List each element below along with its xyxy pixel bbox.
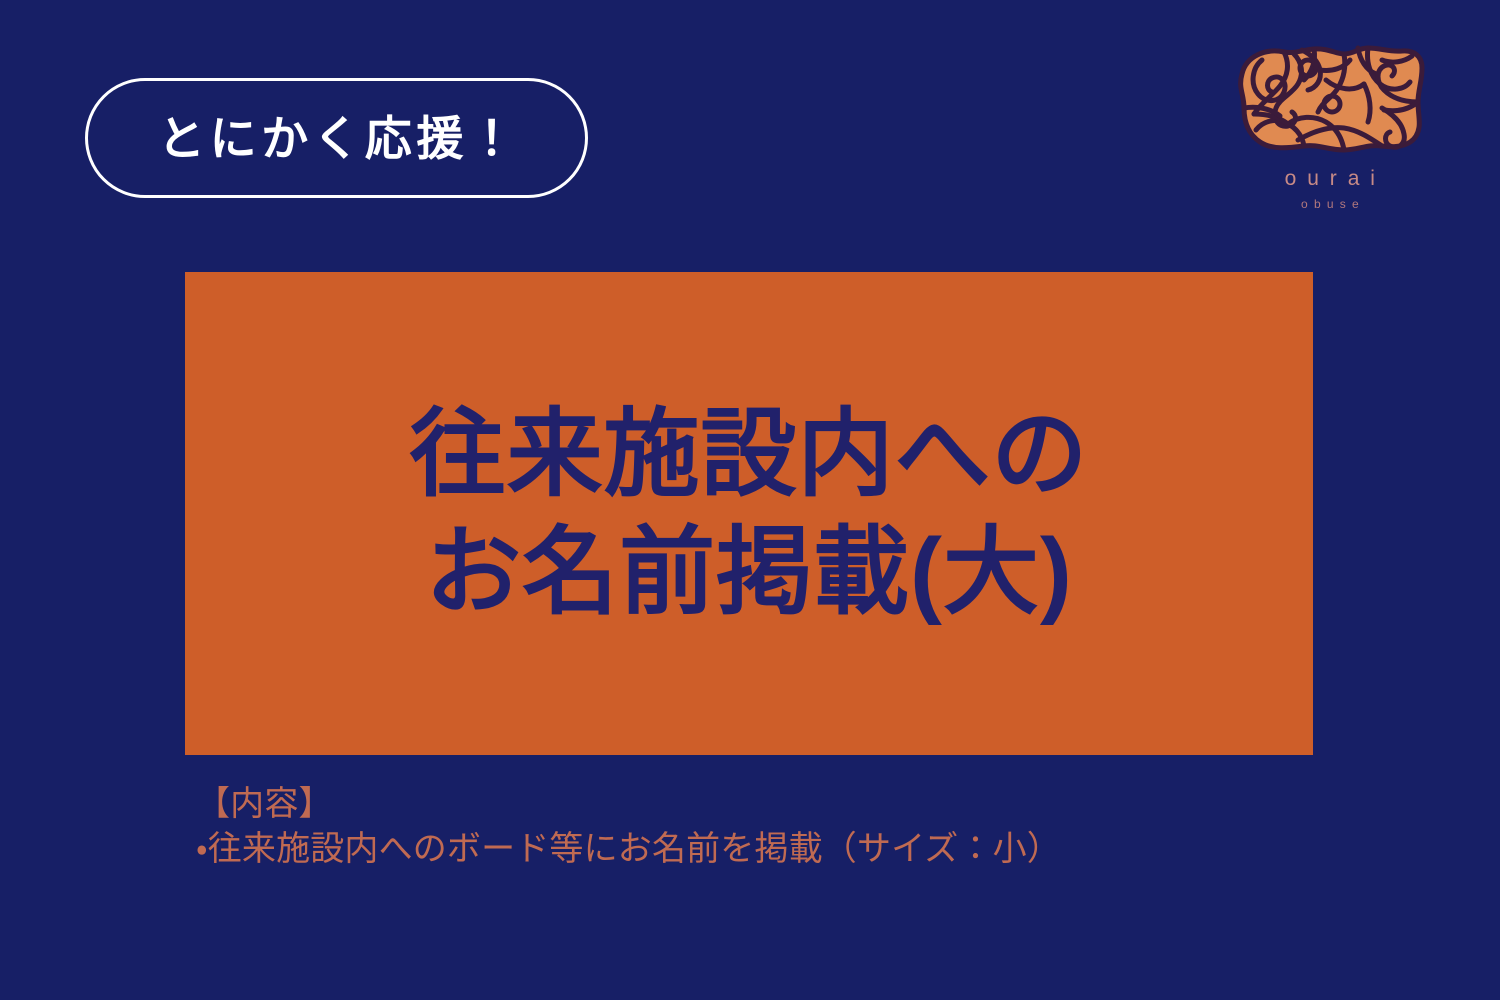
reward-title-panel: 往来施設内への お名前掲載(大) — [185, 272, 1313, 755]
ourai-abstract-mark-icon — [1232, 30, 1428, 160]
description-detail: ・往来施設内へのボード等にお名前を掲載（サイズ：小） — [196, 827, 1356, 872]
promo-slide: とにかく応援！ — [0, 0, 1500, 1000]
reward-title-line-1: 往来施設内への — [410, 396, 1089, 513]
logo-subword: obuse — [1232, 198, 1428, 210]
logo-wordmark: ourai — [1232, 168, 1428, 189]
brand-logo: ourai obuse — [1232, 30, 1428, 215]
campaign-badge: とにかく応援！ — [85, 78, 588, 198]
reward-title-line-2: お名前掲載(大) — [425, 514, 1073, 631]
reward-description: 【内容】 ・往来施設内へのボード等にお名前を掲載（サイズ：小） — [196, 782, 1356, 872]
campaign-badge-label: とにかく応援！ — [153, 115, 520, 162]
description-heading: 【内容】 — [196, 782, 1356, 827]
